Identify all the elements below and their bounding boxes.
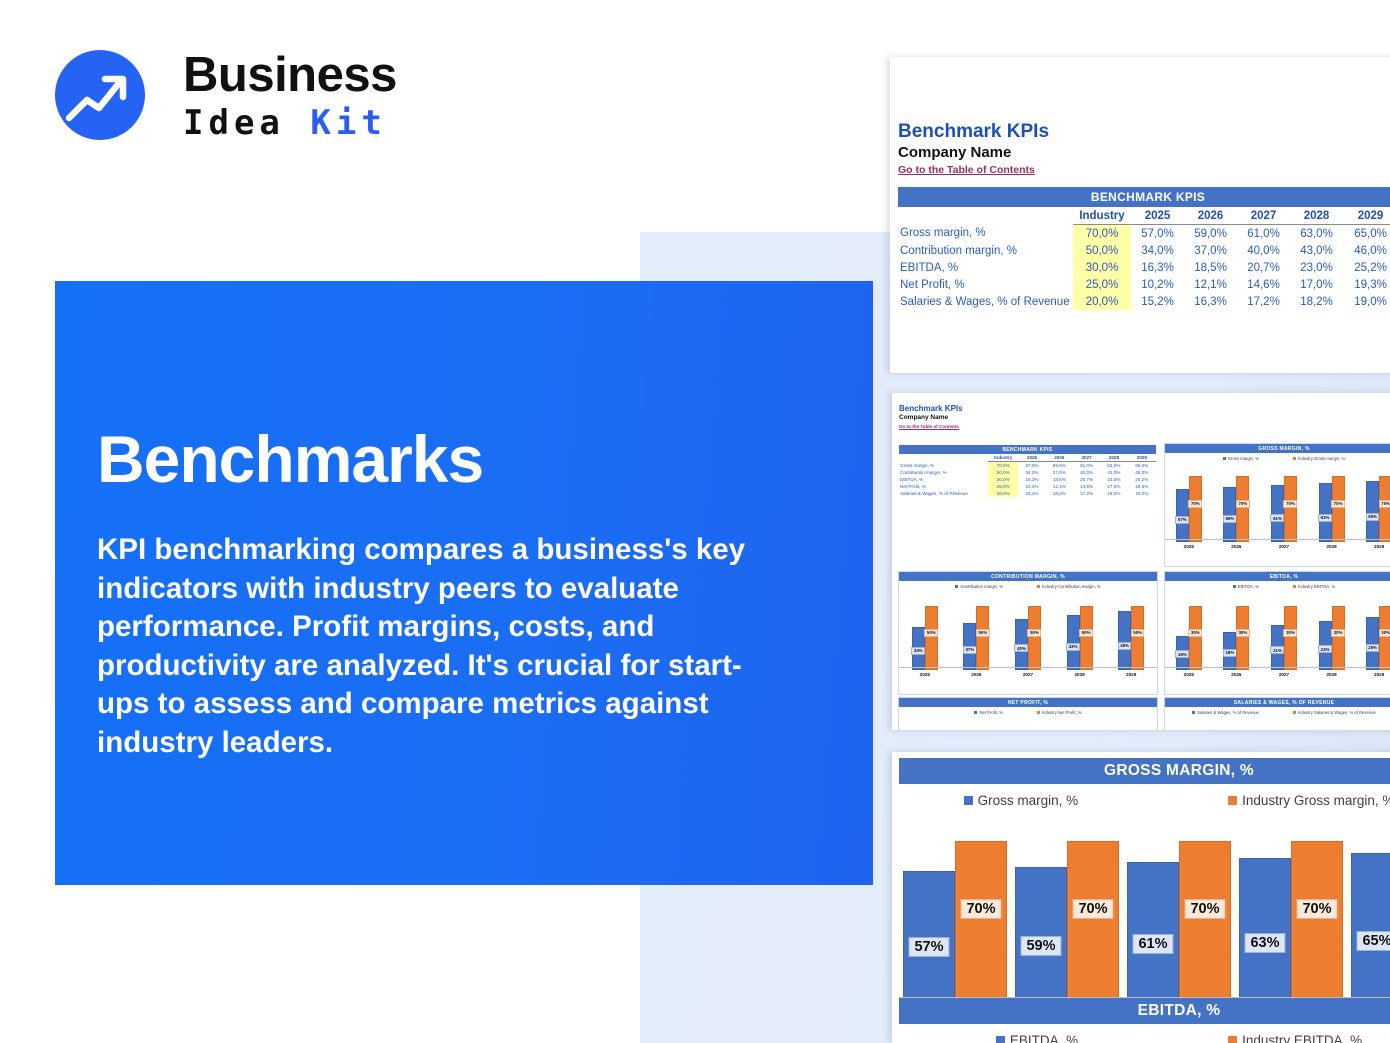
chart-x-label: 2028 xyxy=(1326,544,1336,549)
chart-bar[interactable]: 70% xyxy=(1189,476,1202,542)
chart-group: 15%25%2027 xyxy=(1015,715,1041,730)
chart-data-label: 46% xyxy=(1118,642,1132,650)
kpi-year-value: 12,1% xyxy=(1184,276,1237,293)
kpi-header-industry: Industry xyxy=(1073,207,1131,225)
chart-x-label: 2025 xyxy=(1184,544,1194,549)
chart-data-label: 70% xyxy=(960,899,1001,919)
chart-bar[interactable]: 34% xyxy=(912,627,925,671)
kpi-year-value: 37,0% xyxy=(1184,242,1237,259)
chart-bar[interactable]: 50% xyxy=(1080,606,1093,670)
chart-bar[interactable]: 70% xyxy=(1332,476,1345,542)
kpi-row-label: Contribution margin, % xyxy=(898,242,1073,259)
chart-data-label: 70% xyxy=(1379,500,1390,508)
chart-group: 17%25%2028 xyxy=(1067,715,1093,730)
chart-bar[interactable]: 30% xyxy=(1189,606,1202,670)
legend-swatch-icon xyxy=(996,1036,1005,1043)
chart-bar[interactable]: 61% xyxy=(1127,862,1179,1002)
chart-group: 18%20%2028 xyxy=(1319,715,1345,730)
kpi-industry-value: 50,0% xyxy=(988,469,1018,476)
chart-data-label: 30% xyxy=(1236,629,1250,637)
kpi-header-industry: Industry xyxy=(988,454,1018,462)
chart-x-label: 2025 xyxy=(1184,672,1194,677)
legend-swatch-icon xyxy=(1228,796,1237,805)
chart-bar[interactable]: 70% xyxy=(1284,476,1297,542)
kpi-year-value: 10,2% xyxy=(1018,483,1045,490)
chart-group: 59%70%2026 xyxy=(1223,461,1249,549)
table-row: EBITDA, %30,0%16,3%18,5%20,7%23,0%25,2% xyxy=(899,476,1156,483)
chart-data-label: 63% xyxy=(1244,933,1285,953)
chart-group: 19%25%2029 xyxy=(1118,715,1144,730)
kpi-table: BENCHMARK KPISIndustry202520262027202820… xyxy=(898,187,1390,310)
chart-x-label: 2029 xyxy=(1374,544,1384,549)
chart-data-label: 18% xyxy=(1223,649,1237,657)
chart-bar[interactable]: 40% xyxy=(1015,619,1028,670)
chart-data-label: 70% xyxy=(1188,500,1202,508)
kpi-header-2029: 2029 xyxy=(1128,454,1156,462)
legend-swatch-icon xyxy=(1293,457,1296,460)
kpi-year-value: 20,7% xyxy=(1237,259,1290,276)
legend-swatch-icon xyxy=(964,796,973,805)
chart-bar[interactable]: 61% xyxy=(1271,485,1284,542)
table-row: Gross margin, %70,0%57,0%59,0%61,0%63,0%… xyxy=(898,225,1390,243)
chart-data-label: 70% xyxy=(1296,899,1337,919)
chart-group: 12%25%2026 xyxy=(963,715,989,730)
kpi-year-value: 10,2% xyxy=(1131,276,1184,293)
chart-data-label: 40% xyxy=(1015,644,1029,652)
table-row: Contribution margin, %50,0%34,0%37,0%40,… xyxy=(898,242,1390,259)
kpi-header-2025: 2025 xyxy=(1018,454,1045,462)
kpi-year-value: 23,0% xyxy=(1290,259,1343,276)
kpi-header-2026: 2026 xyxy=(1184,207,1237,225)
legend-item[interactable]: Industry Gross margin, % xyxy=(1228,793,1390,808)
chart-group: 37%50%2026 xyxy=(963,589,989,677)
chart-group: 19%20%2029 xyxy=(1366,715,1390,730)
table-of-contents-link[interactable]: Go to the Table of Contents xyxy=(899,424,959,429)
chart-x-label: 2025 xyxy=(920,672,930,677)
chart-data-label: 50% xyxy=(1079,629,1093,637)
chart-bar[interactable]: 43% xyxy=(1067,615,1080,670)
kpi-year-value: 65,0% xyxy=(1128,462,1156,470)
kpi-band-title: BENCHMARK KPIS xyxy=(898,187,1390,207)
chart-bar[interactable]: 30% xyxy=(1284,606,1297,670)
kpi-row-label: Net Profit, % xyxy=(899,483,988,490)
chart-data-label: 70% xyxy=(1331,500,1345,508)
chart-data-label: 30% xyxy=(1284,629,1298,637)
kpi-year-value: 17,2% xyxy=(1073,490,1100,497)
chart-data-label: 43% xyxy=(1066,643,1080,651)
kpi-year-value: 20,7% xyxy=(1073,476,1100,483)
chart-bar[interactable]: 30% xyxy=(1332,606,1345,670)
kpi-year-value: 65,0% xyxy=(1343,225,1390,243)
chart-x-label: 2028 xyxy=(1074,672,1084,677)
legend-swatch-icon xyxy=(1228,1036,1237,1043)
kpi-row-label: Gross margin, % xyxy=(898,225,1073,243)
chart-bar[interactable]: 37% xyxy=(963,623,976,670)
chart-group: 40%50%2027 xyxy=(1015,589,1041,677)
chart-axis-line xyxy=(1165,539,1390,540)
chart-group: 65%70%2029 xyxy=(1366,461,1390,549)
chart-title: NET PROFIT, % xyxy=(899,698,1157,707)
chart-bar[interactable]: 50% xyxy=(1131,606,1144,670)
kpi-header-blank xyxy=(899,454,988,462)
chart-legend: Gross margin, %Industry Gross margin, % xyxy=(899,793,1390,808)
sheet-heading: Benchmark KPIs xyxy=(898,121,1049,143)
table-row: Net Profit, %25,0%10,2%12,1%14,6%17,0%19… xyxy=(899,483,1156,490)
kpi-row-label: Contribution margin, % xyxy=(899,469,988,476)
chart-data-label: 30% xyxy=(1379,629,1390,637)
chart-data-label: 61% xyxy=(1132,934,1173,954)
kpi-year-value: 17,2% xyxy=(1237,293,1290,310)
kpi-year-value: 14,6% xyxy=(1073,483,1100,490)
table-row: EBITDA, %30,0%16,3%18,5%20,7%23,0%25,2% xyxy=(898,259,1390,276)
spreadsheet-card-top[interactable]: Benchmark KPIs Company Name Go to the Ta… xyxy=(890,57,1390,373)
kpi-year-value: 18,2% xyxy=(1290,293,1343,310)
chart-bar[interactable]: 16% xyxy=(1176,636,1189,670)
chart-x-label: 2026 xyxy=(971,672,981,677)
kpi-band-row: BENCHMARK KPIS xyxy=(899,445,1156,454)
chart-gross-margin-large[interactable]: GROSS MARGIN, %Gross margin, %Industry G… xyxy=(899,758,1390,1006)
kpi-row-label: Salaries & Wages, % of Revenue xyxy=(899,490,988,497)
hero-panel: Benchmarks KPI benchmarking compares a b… xyxy=(55,281,873,885)
kpi-table-body-mid: BENCHMARK KPISIndustry202520262027202820… xyxy=(899,445,1156,497)
kpi-row-label: Salaries & Wages, % of Revenue xyxy=(898,293,1073,310)
kpi-industry-value: 70,0% xyxy=(1073,225,1131,243)
chart-data-label: 70% xyxy=(1236,500,1250,508)
kpi-industry-value: 25,0% xyxy=(988,483,1018,490)
kpi-year-value: 17,0% xyxy=(1100,483,1127,490)
sheet-subheading: Company Name xyxy=(899,414,948,421)
hero-description: KPI benchmarking compares a business's k… xyxy=(97,531,767,762)
legend-swatch-icon xyxy=(1037,711,1040,714)
chart-group: 57%70%2025 xyxy=(903,824,1007,1024)
chart-bar[interactable]: 65% xyxy=(1351,853,1390,1002)
kpi-year-value: 46,0% xyxy=(1343,242,1390,259)
chart-data-label: 50% xyxy=(1131,629,1145,637)
kpi-year-value: 61,0% xyxy=(1237,225,1290,243)
chart-bar[interactable]: 50% xyxy=(1028,606,1041,670)
chart-x-label: 2029 xyxy=(1126,672,1136,677)
chart-legend: EBITDA, %Industry EBITDA, % xyxy=(899,1033,1390,1043)
chart-data-label: 37% xyxy=(963,646,977,654)
table-row: Net Profit, %25,0%10,2%12,1%14,6%17,0%19… xyxy=(898,276,1390,293)
kpi-industry-value: 30,0% xyxy=(988,476,1018,483)
kpi-year-value: 23,0% xyxy=(1100,476,1127,483)
kpi-year-value: 18,2% xyxy=(1100,490,1127,497)
kpi-year-value: 43,0% xyxy=(1290,242,1343,259)
kpi-year-value: 19,3% xyxy=(1128,483,1156,490)
spreadsheet-card-middle[interactable]: Benchmark KPIs Company Name Go to the Ta… xyxy=(892,393,1390,730)
chart-group: 63%70%2028 xyxy=(1319,461,1345,549)
chart-data-label: 50% xyxy=(976,629,990,637)
chart-data-label: 61% xyxy=(1271,514,1285,522)
kpi-row-label: EBITDA, % xyxy=(899,476,988,483)
chart-bar[interactable]: 50% xyxy=(976,606,989,670)
chart-bar[interactable]: 57% xyxy=(903,871,955,1002)
brand-name-primary: Business xyxy=(183,48,397,102)
chart-data-label: 63% xyxy=(1318,514,1332,522)
chart-plot-area: 57%70%202559%70%202661%70%202763%70%2028… xyxy=(1165,461,1390,549)
chart-plot-area: 16%30%202518%30%202621%30%202723%30%2028… xyxy=(1165,589,1390,677)
kpi-year-value: 14,6% xyxy=(1237,276,1290,293)
kpi-year-value: 18,5% xyxy=(1184,259,1237,276)
chart-data-label: 21% xyxy=(1271,646,1285,654)
chart-group: 10%25%2025 xyxy=(912,715,938,730)
chart-bar[interactable]: 18% xyxy=(1223,632,1236,670)
chart-data-label: 59% xyxy=(1020,936,1061,956)
chart-group: 63%70%2028 xyxy=(1239,824,1343,1024)
kpi-year-value: 59,0% xyxy=(1184,225,1237,243)
chart-bar[interactable]: 46% xyxy=(1118,611,1131,670)
brand-name-accent: Kit xyxy=(310,103,386,143)
kpi-year-value: 19,0% xyxy=(1128,490,1156,497)
kpi-header-2025: 2025 xyxy=(1131,207,1184,225)
kpi-year-value: 16,3% xyxy=(1018,476,1045,483)
legend-swatch-icon xyxy=(955,585,958,588)
chart-bar[interactable]: 70% xyxy=(1179,841,1231,1002)
chart-data-label: 25% xyxy=(1366,644,1380,652)
chart-data-label: 50% xyxy=(924,629,938,637)
brand-logo: Business Idea Kit xyxy=(55,48,475,163)
chart-bar[interactable]: 21% xyxy=(1271,625,1284,670)
chart-group: 59%70%2026 xyxy=(1015,824,1119,1024)
chart-group: 34%50%2025 xyxy=(912,589,938,677)
chart-bar[interactable]: 30% xyxy=(1236,606,1249,670)
chart-group: 43%50%2028 xyxy=(1067,589,1093,677)
kpi-year-value: 19,3% xyxy=(1343,276,1390,293)
chart-group: 16%30%2025 xyxy=(1176,589,1202,677)
brand-name-secondary: Idea xyxy=(183,103,285,143)
chart-title: EBITDA, % xyxy=(1165,572,1390,581)
chart-group: 61%70%2027 xyxy=(1127,824,1231,1024)
legend-swatch-icon xyxy=(1293,585,1296,588)
kpi-year-value: 57,0% xyxy=(1018,462,1045,470)
kpi-row-label: EBITDA, % xyxy=(898,259,1073,276)
chart-contribution-margin-mini[interactable]: CONTRIBUTION MARGIN, %Contribution margi… xyxy=(898,571,1158,695)
chart-bar[interactable]: 23% xyxy=(1319,621,1332,670)
chart-net-profit-mini[interactable]: NET PROFIT, %Net Profit, %Industry Net P… xyxy=(898,697,1158,730)
chart-data-label: 23% xyxy=(1318,645,1332,653)
chart-data-label: 16% xyxy=(1175,650,1189,658)
chart-x-label: 2026 xyxy=(1231,672,1241,677)
chart-x-label: 2027 xyxy=(1023,672,1033,677)
page-title: Benchmarks xyxy=(97,421,483,497)
kpi-year-value: 63,0% xyxy=(1100,462,1127,470)
chart-data-label: 30% xyxy=(1331,629,1345,637)
chart-x-label: 2026 xyxy=(1231,544,1241,549)
kpi-year-value: 40,0% xyxy=(1237,242,1290,259)
kpi-header-2027: 2027 xyxy=(1237,207,1290,225)
kpi-year-value: 40,0% xyxy=(1073,469,1100,476)
legend-swatch-icon xyxy=(974,711,977,714)
kpi-industry-value: 70,0% xyxy=(988,462,1018,470)
chart-group: 17%20%2027 xyxy=(1271,715,1297,730)
chart-plot-area: 34%50%202537%50%202640%50%202743%50%2028… xyxy=(899,589,1157,677)
legend-swatch-icon xyxy=(1223,457,1226,460)
chart-data-label: 65% xyxy=(1366,513,1380,521)
kpi-year-value: 43,0% xyxy=(1100,469,1127,476)
chart-data-label: 70% xyxy=(1284,500,1298,508)
kpi-year-value: 46,0% xyxy=(1128,469,1156,476)
kpi-band-row: BENCHMARK KPIS xyxy=(898,187,1390,207)
kpi-year-value: 15,2% xyxy=(1131,293,1184,310)
trend-arrow-icon xyxy=(55,50,145,140)
table-row: Gross margin, %70,0%57,0%59,0%61,0%63,0%… xyxy=(899,462,1156,470)
legend-swatch-icon xyxy=(1037,585,1040,588)
chart-group: 23%30%2028 xyxy=(1319,589,1345,677)
chart-bar[interactable]: 63% xyxy=(1319,483,1332,542)
chart-title: GROSS MARGIN, % xyxy=(1165,444,1390,453)
chart-x-label: 2029 xyxy=(1374,672,1384,677)
legend-label: Gross margin, % xyxy=(978,793,1079,808)
chart-axis-line xyxy=(899,667,1157,668)
kpi-header-row: Industry20252026202720282029 xyxy=(898,207,1390,225)
kpi-year-value: 34,0% xyxy=(1131,242,1184,259)
chart-bar[interactable]: 63% xyxy=(1239,858,1291,1002)
chart-bar[interactable]: 65% xyxy=(1366,481,1379,542)
chart-data-label: 34% xyxy=(911,647,925,655)
kpi-header-2029: 2029 xyxy=(1343,207,1390,225)
chart-x-label: 2027 xyxy=(1279,544,1289,549)
table-of-contents-link[interactable]: Go to the Table of Contents xyxy=(898,164,1035,176)
kpi-industry-value: 50,0% xyxy=(1073,242,1131,259)
sheet-subheading: Company Name xyxy=(898,144,1011,161)
chart-bar[interactable]: 57% xyxy=(1176,489,1189,542)
chart-plot-area: 15%20%202516%20%202617%20%202718%20%2028… xyxy=(1165,715,1390,730)
kpi-industry-value: 30,0% xyxy=(1073,259,1131,276)
legend-swatch-icon xyxy=(1192,711,1195,714)
kpi-header-2028: 2028 xyxy=(1100,454,1127,462)
legend-item[interactable]: Gross margin, % xyxy=(964,793,1079,808)
kpi-year-value: 63,0% xyxy=(1290,225,1343,243)
kpi-year-value: 15,2% xyxy=(1018,490,1045,497)
chart-ebitda-large[interactable]: EBITDA, %EBITDA, %Industry EBITDA, % xyxy=(899,998,1390,1043)
kpi-row-label: Gross margin, % xyxy=(899,462,988,470)
chart-data-label: 59% xyxy=(1223,515,1237,523)
kpi-year-value: 25,2% xyxy=(1128,476,1156,483)
chart-title: GROSS MARGIN, % xyxy=(899,758,1390,784)
kpi-year-value: 37,0% xyxy=(1046,469,1073,476)
chart-axis-line xyxy=(1165,667,1390,668)
chart-data-label: 57% xyxy=(1175,516,1189,524)
legend-swatch-icon xyxy=(1293,711,1296,714)
chart-bar[interactable]: 70% xyxy=(1236,476,1249,542)
kpi-year-value: 18,5% xyxy=(1046,476,1073,483)
chart-bar[interactable]: 70% xyxy=(1067,841,1119,1002)
kpi-year-value: 16,3% xyxy=(1046,490,1073,497)
chart-data-label: 65% xyxy=(1356,931,1390,951)
table-row: Salaries & Wages, % of Revenue20,0%15,2%… xyxy=(898,293,1390,310)
kpi-industry-value: 20,0% xyxy=(1073,293,1131,310)
chart-data-label: 30% xyxy=(1188,629,1202,637)
chart-data-label: 70% xyxy=(1184,899,1225,919)
kpi-header-blank xyxy=(898,207,1073,225)
kpi-year-value: 61,0% xyxy=(1073,462,1100,470)
chart-title: SALARIES & WAGES, % OF REVENUE xyxy=(1165,698,1390,707)
chart-group: 65%70%2029 xyxy=(1351,824,1390,1024)
kpi-year-value: 59,0% xyxy=(1046,462,1073,470)
chart-data-label: 57% xyxy=(908,937,949,957)
kpi-table-body-top: BENCHMARK KPISIndustry202520262027202820… xyxy=(898,187,1390,310)
legend-label: EBITDA, % xyxy=(1010,1033,1078,1043)
kpi-industry-value: 20,0% xyxy=(988,490,1018,497)
chart-salaries-wages-mini[interactable]: SALARIES & WAGES, % OF REVENUESalaries &… xyxy=(1164,697,1390,730)
legend-swatch-icon xyxy=(1233,585,1236,588)
kpi-year-value: 16,3% xyxy=(1184,293,1237,310)
chart-group: 46%50%2029 xyxy=(1118,589,1144,677)
chart-ebitda-mini[interactable]: EBITDA, %EBITDA, %Industry EBITDA, %16%3… xyxy=(1164,571,1390,695)
chart-data-label: 70% xyxy=(1072,899,1113,919)
kpi-year-value: 57,0% xyxy=(1131,225,1184,243)
chart-group: 57%70%2025 xyxy=(1176,461,1202,549)
kpi-header-2026: 2026 xyxy=(1046,454,1073,462)
chart-bar[interactable]: 70% xyxy=(1291,841,1343,1002)
chart-data-label: 50% xyxy=(1028,629,1042,637)
chart-bar[interactable]: 59% xyxy=(1015,867,1067,1002)
legend-item[interactable]: Industry EBITDA, % xyxy=(1228,1033,1362,1043)
kpi-industry-value: 25,0% xyxy=(1073,276,1131,293)
chart-x-label: 2027 xyxy=(1279,672,1289,677)
kpi-year-value: 17,0% xyxy=(1290,276,1343,293)
kpi-table: BENCHMARK KPISIndustry202520262027202820… xyxy=(899,445,1156,497)
chart-plot-area: 10%25%202512%25%202615%25%202717%25%2028… xyxy=(899,715,1157,730)
kpi-year-value: 12,1% xyxy=(1046,483,1073,490)
table-row: Contribution margin, %50,0%34,0%37,0%40,… xyxy=(899,469,1156,476)
legend-label: Industry Gross margin, % xyxy=(1242,793,1390,808)
kpi-row-label: Net Profit, % xyxy=(898,276,1073,293)
chart-plot-area: 57%70%202559%70%202661%70%202763%70%2028… xyxy=(899,824,1390,1024)
chart-bar[interactable]: 25% xyxy=(1366,617,1379,670)
chart-group: 16%20%2026 xyxy=(1223,715,1249,730)
chart-group: 25%30%2029 xyxy=(1366,589,1390,677)
chart-gross-margin-mini[interactable]: GROSS MARGIN, %Gross margin, %Industry G… xyxy=(1164,443,1390,567)
kpi-year-value: 25,2% xyxy=(1343,259,1390,276)
chart-group: 21%30%2027 xyxy=(1271,589,1297,677)
kpi-year-value: 34,0% xyxy=(1018,469,1045,476)
kpi-header-2027: 2027 xyxy=(1073,454,1100,462)
chart-group: 61%70%2027 xyxy=(1271,461,1297,549)
chart-title: EBITDA, % xyxy=(899,998,1390,1024)
spreadsheet-card-bottom[interactable]: GROSS MARGIN, %Gross margin, %Industry G… xyxy=(892,752,1390,1043)
kpi-header-2028: 2028 xyxy=(1290,207,1343,225)
chart-group: 18%30%2026 xyxy=(1223,589,1249,677)
slide-canvas: Business Idea Kit Benchmarks KPI benchma… xyxy=(0,0,1390,1043)
kpi-header-row: Industry20252026202720282029 xyxy=(899,454,1156,462)
legend-label: Industry EBITDA, % xyxy=(1242,1033,1362,1043)
sheet-heading: Benchmark KPIs xyxy=(899,404,963,413)
table-row: Salaries & Wages, % of Revenue20,0%15,2%… xyxy=(899,490,1156,497)
chart-x-label: 2028 xyxy=(1326,672,1336,677)
kpi-band-title: BENCHMARK KPIS xyxy=(899,445,1156,454)
kpi-year-value: 16,3% xyxy=(1131,259,1184,276)
chart-bar[interactable]: 70% xyxy=(1379,476,1390,542)
chart-bar[interactable]: 50% xyxy=(925,606,938,670)
chart-bar[interactable]: 30% xyxy=(1379,606,1390,670)
chart-title: CONTRIBUTION MARGIN, % xyxy=(899,572,1157,581)
kpi-year-value: 19,0% xyxy=(1343,293,1390,310)
chart-bar[interactable]: 70% xyxy=(955,841,1007,1002)
chart-group: 15%20%2025 xyxy=(1176,715,1202,730)
chart-bar[interactable]: 59% xyxy=(1223,487,1236,542)
legend-item[interactable]: EBITDA, % xyxy=(996,1033,1078,1043)
